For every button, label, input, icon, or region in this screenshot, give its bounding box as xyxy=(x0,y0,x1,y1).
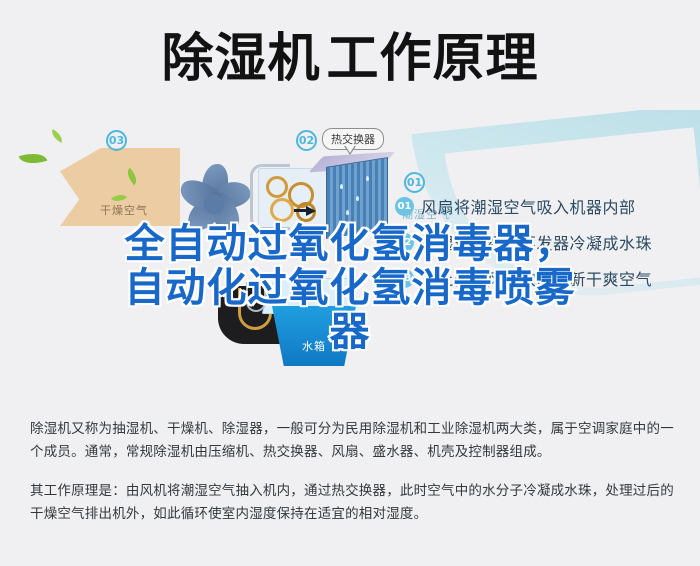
leaf-icon xyxy=(49,129,65,143)
dry-air-label: 干燥空气 xyxy=(100,202,148,218)
legend-item-01: 01 风扇将潮湿空气吸入机器内部 xyxy=(395,188,695,224)
water-droplet xyxy=(356,196,359,201)
legend-text-01: 风扇将潮湿空气吸入机器内部 xyxy=(421,194,636,218)
page-title: 除湿机工作原理 xyxy=(0,26,700,92)
copper-coil xyxy=(266,176,288,198)
fan-hub xyxy=(204,194,224,214)
callout-pointer-inner xyxy=(345,145,355,153)
watermark-line-1: 全自动过氧化氢消毒器， xyxy=(0,222,700,266)
diagram-badge-02: 02 xyxy=(296,130,317,151)
leaf-icon xyxy=(19,148,48,168)
water-droplet xyxy=(340,184,343,189)
body-paragraph-2: 其工作原理是：由风机将潮湿空气抽入机内，通过热交换器，此时空气中的水分子冷凝成水… xyxy=(30,480,676,526)
page-title-part-2: 工作原理 xyxy=(327,29,539,89)
water-droplet xyxy=(346,210,349,215)
watermark-line-2: 自动化过氧化氢消毒喷雾 xyxy=(0,266,700,310)
body-paragraph-1: 除湿机又称为抽湿机、干燥机、除湿器，一般可分为民用除湿机和工业除湿机两大类，属于… xyxy=(30,418,676,464)
diagram-badge-03: 03 xyxy=(106,130,127,151)
copper-coil xyxy=(270,198,294,222)
watermark-line-3: 器 xyxy=(0,310,700,354)
page-title-part-1: 除湿机 xyxy=(161,29,320,89)
airflow-arrow-icon xyxy=(306,206,316,216)
legend-badge-01: 01 xyxy=(395,197,414,216)
water-droplet xyxy=(366,176,369,181)
article-body: 除湿机又称为抽湿机、干燥机、除湿器，一般可分为民用除湿机和工业除湿机两大类，属于… xyxy=(30,418,676,526)
page-root: 除湿机工作原理 干燥空气 xyxy=(0,0,700,566)
watermark-overlay: 全自动过氧化氢消毒器， 自动化过氧化氢消毒喷雾 器 xyxy=(0,222,700,354)
